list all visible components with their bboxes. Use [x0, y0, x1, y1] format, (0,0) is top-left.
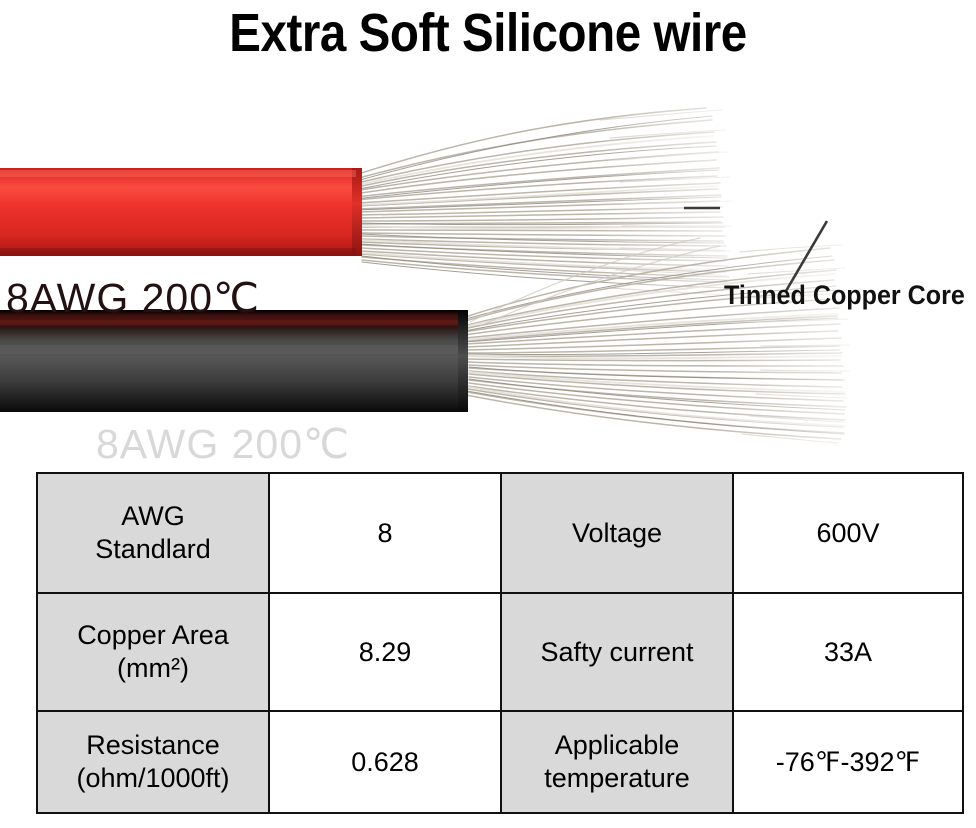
spec-label-copper-area: Copper Area(mm²)	[37, 593, 269, 711]
spec-value-copper-area: 8.29	[269, 593, 501, 711]
specification-table: AWGStandlard 8 Voltage 600V Copper Area(…	[36, 472, 964, 814]
table-row: Resistance(ohm/1000ft) 0.628 Applicablet…	[37, 711, 963, 813]
table-row: AWGStandlard 8 Voltage 600V	[37, 473, 963, 593]
spec-label-applicable-temperature: Applicabletemperature	[501, 711, 733, 813]
black-wire-print-label: 8AWG 200℃	[96, 424, 350, 464]
spec-value-awg-standlard: 8	[269, 473, 501, 593]
spec-value-resistance: 0.628	[269, 711, 501, 813]
red-wire-insulation	[0, 168, 362, 256]
product-photo: 8AWG 200℃ 8AWG 200℃ Tinned Copper Core	[0, 90, 976, 450]
spec-value-voltage: 600V	[733, 473, 963, 593]
spec-label-safty-current: Safty current	[501, 593, 733, 711]
wire-illustration	[0, 90, 976, 450]
table-row: Copper Area(mm²) 8.29 Safty current 33A	[37, 593, 963, 711]
tinned-copper-core-callout-label: Tinned Copper Core	[724, 279, 965, 311]
red-wire-print-label: 8AWG 200℃	[6, 278, 260, 318]
page-title: Extra Soft Silicone wire	[59, 2, 918, 64]
spec-value-applicable-temperature: -76℉-392℉	[733, 711, 963, 813]
spec-label-resistance: Resistance(ohm/1000ft)	[37, 711, 269, 813]
spec-label-voltage: Voltage	[501, 473, 733, 593]
spec-value-safty-current: 33A	[733, 593, 963, 711]
spec-label-awg-standlard: AWGStandlard	[37, 473, 269, 593]
black-wire-insulation	[0, 310, 468, 412]
